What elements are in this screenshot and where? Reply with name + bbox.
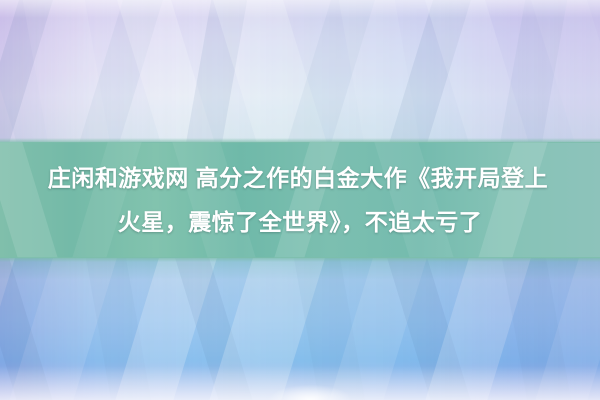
banner-headline: 庄闲和游戏网 高分之作的白金大作《我开局登上 火星，震惊了全世界》，不追太亏了 — [0, 146, 600, 254]
top-glow — [0, 0, 600, 18]
promo-banner: 庄闲和游戏网 高分之作的白金大作《我开局登上 火星，震惊了全世界》，不追太亏了 — [0, 0, 600, 400]
bottom-glow — [0, 366, 600, 400]
headline-line-2: 火星，震惊了全世界》，不追太亏了 — [118, 200, 483, 244]
background-facets-top — [0, 0, 600, 150]
headline-line-1: 庄闲和游戏网 高分之作的白金大作《我开局登上 — [48, 156, 552, 200]
